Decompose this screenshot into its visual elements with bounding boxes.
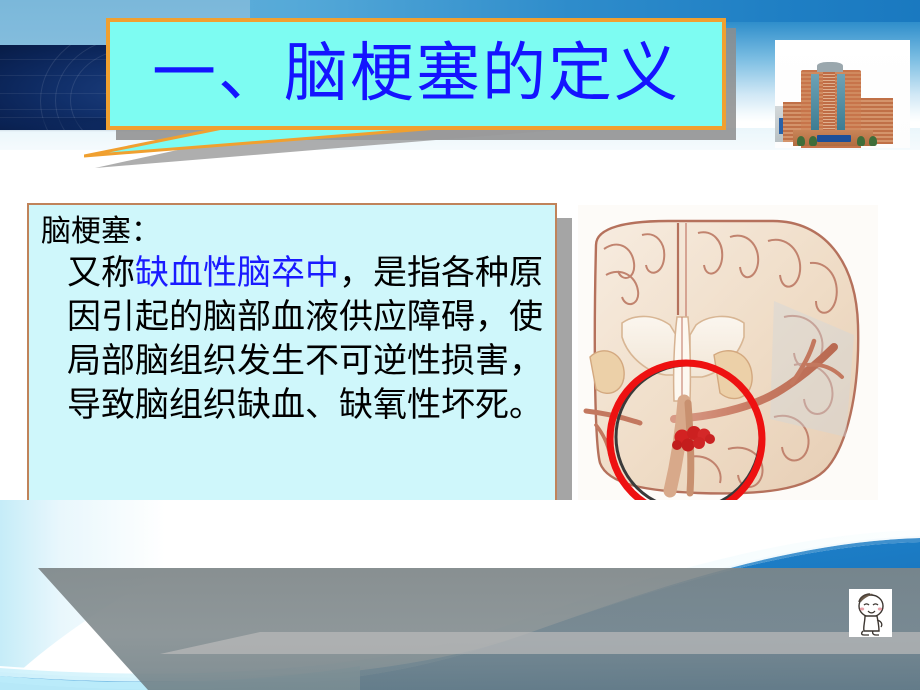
brain-coronal-section-svg xyxy=(578,205,878,517)
body-shadow-trapezoid xyxy=(18,568,920,690)
cartoon-character-icon xyxy=(849,589,892,637)
para-line-5: 脑组织缺血、缺氧性坏死。 xyxy=(135,385,543,425)
definition-paragraph: 又称缺血性脑卒中，是指各种原因引起的脑部血液供应障碍，使局部脑组织发生不可逆性损… xyxy=(39,251,547,428)
definition-heading: 脑梗塞： xyxy=(41,215,547,249)
brain-diagram xyxy=(578,205,878,517)
para-line-1-highlight: 缺血性脑卒中 xyxy=(135,253,339,293)
page-title: 一、脑梗塞的定义 xyxy=(106,18,726,130)
para-line-1-suffix: ，是指 xyxy=(339,253,441,293)
para-line-1-prefix: 又称 xyxy=(67,253,135,293)
hospital-building-photo xyxy=(775,40,910,148)
slide-canvas: 一、脑梗塞的定义 xyxy=(0,0,920,690)
